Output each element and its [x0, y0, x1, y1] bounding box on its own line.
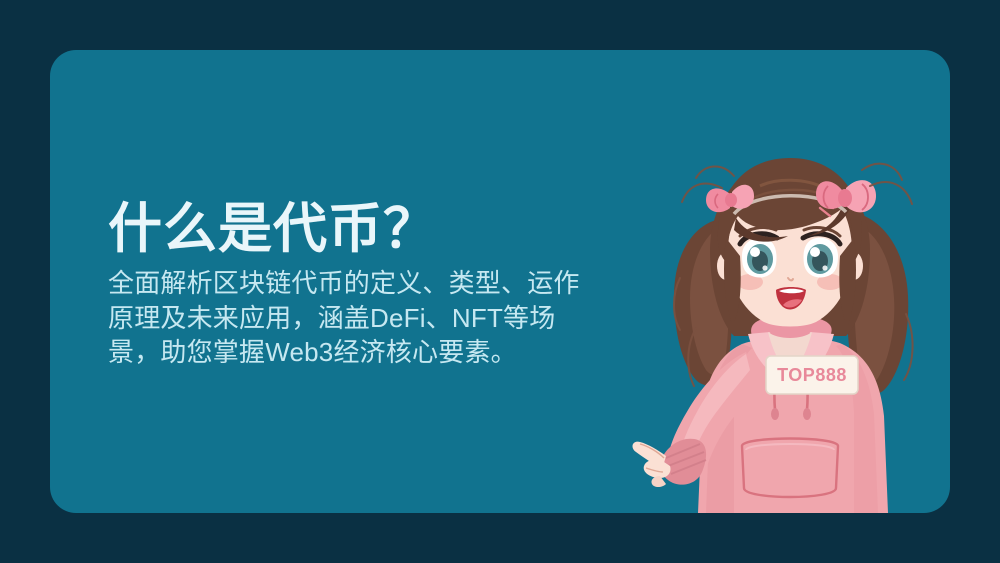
text-block: 什么是代币？ 全面解析区块链代币的定义、类型、运作原理及未来应用，涵盖DeFi、…: [108, 200, 608, 369]
hoodie-badge: TOP888: [766, 356, 858, 394]
page-title: 什么是代币？: [108, 200, 608, 258]
slide-card: 什么是代币？ 全面解析区块链代币的定义、类型、运作原理及未来应用，涵盖DeFi、…: [50, 50, 950, 513]
slide-subtitle: 全面解析区块链代币的定义、类型、运作原理及未来应用，涵盖DeFi、NFT等场景，…: [108, 266, 600, 369]
hoodie-badge-text: TOP888: [777, 365, 847, 385]
character-illustration: TOP888: [630, 128, 950, 513]
slide-root: 什么是代币？ 全面解析区块链代币的定义、类型、运作原理及未来应用，涵盖DeFi、…: [0, 0, 1000, 563]
